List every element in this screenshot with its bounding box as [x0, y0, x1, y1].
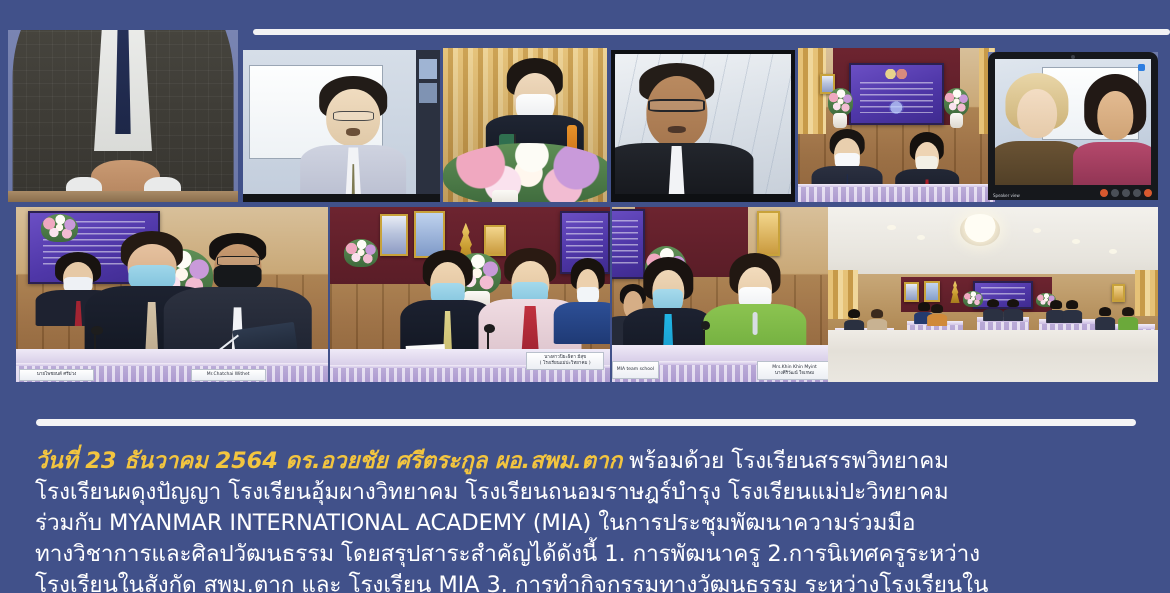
body-line-2: โรงเรียนผดุงปัญญา โรงเรียนอุ้มผางวิทยาคม…	[35, 477, 1145, 508]
photo-remote-participant-laptop	[243, 50, 440, 202]
photo-panel-women-green: MIA team school Mrs.Khin Khin Myint นางศ…	[612, 207, 846, 382]
photo-chairman-closeup	[8, 0, 238, 202]
body-line-5: โรงเรียนในสังกัด สพม.ตาก และ โรงเรียน MI…	[35, 570, 1145, 593]
photo-panel-women-row: นางสาวปิยะธิดา มีสุข ( โรงเรียนแม่ปะวิทย…	[330, 207, 610, 382]
body-line-3: ร่วมกับ MYANMAR INTERNATIONAL ACADEMY (M…	[35, 508, 1145, 539]
body-line-1: วันที่ 23 ธันวาคม 2564 ดร.อวยชัย ศรีตระก…	[35, 446, 1145, 477]
body-line-4: ทางวิชาการและศิลปวัฒนธรรม โดยสรุปสาระสำค…	[35, 539, 1145, 570]
body-description: วันที่ 23 ธันวาคม 2564 ดร.อวยชัย ศรีตระก…	[35, 446, 1145, 593]
nameplate-6: Mrs.Khin Khin Myint นางศิริวัฒน์ ใจเกษม	[757, 361, 832, 380]
photo-panel-two-delegates: นายไพชยนต์ ศรีม่วง Mr.Chatchai Withet	[16, 207, 328, 382]
body-line-1-highlight: วันที่ 23 ธันวาคม 2564 ดร.อวยชัย ศรีตระก…	[35, 448, 622, 474]
photo-remote-speaker-monitor	[611, 50, 795, 202]
nameplate-5: MIA team school	[612, 361, 659, 379]
divider-top	[253, 29, 1170, 35]
photo-grid: Speaker view	[0, 0, 1170, 400]
nameplate-2: Mr.Chatchai Withet	[191, 369, 266, 381]
camera-dot	[1071, 55, 1075, 59]
photo-speaker-podium	[443, 48, 607, 202]
photo-two-delegates-stage	[798, 48, 995, 202]
video-call-screen	[995, 59, 1151, 185]
photo-two-remote-women-tablet: Speaker view	[988, 52, 1158, 200]
nameplate-1: นายไพชยนต์ ศรีม่วง	[19, 369, 94, 381]
photo-conference-hall-wide	[828, 207, 1158, 382]
video-call-name-label: Speaker view	[993, 193, 1020, 198]
header-band	[0, 0, 1170, 30]
divider-bottom	[36, 419, 1136, 426]
video-call-tile: Speaker view	[988, 52, 1158, 200]
poster-root: Speaker view	[0, 0, 1170, 593]
body-line-1-rest: พร้อมด้วย โรงเรียนสรรพวิทยาคม	[622, 448, 949, 474]
nameplate-3: นางสาวปิยะธิดา มีสุข ( โรงเรียนแม่ปะวิทย…	[526, 352, 604, 370]
